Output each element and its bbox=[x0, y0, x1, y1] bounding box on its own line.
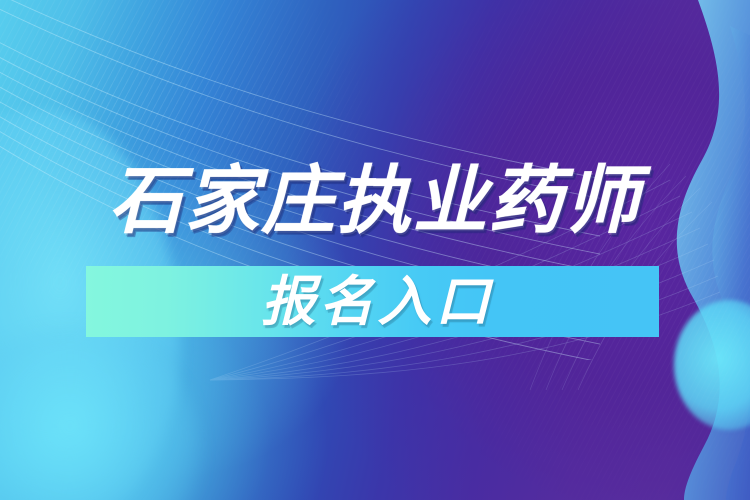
banner-headline: 石家庄执业药师 bbox=[0, 158, 750, 244]
banner-content: 石家庄执业药师 报名入口 bbox=[0, 0, 750, 500]
registration-entry-band[interactable]: 报名入口 bbox=[86, 266, 659, 337]
promo-banner: 石家庄执业药师 报名入口 bbox=[0, 0, 750, 500]
registration-entry-label: 报名入口 bbox=[262, 273, 494, 331]
